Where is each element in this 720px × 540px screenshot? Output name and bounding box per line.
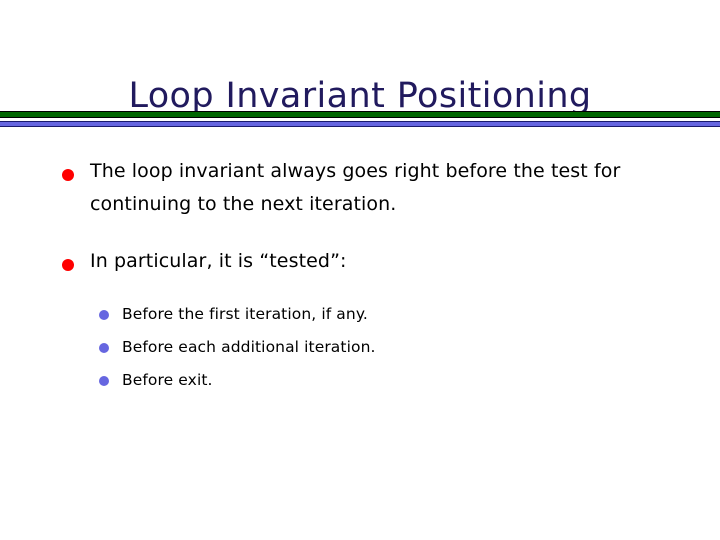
sub-bullet-text: Before exit. xyxy=(122,368,720,392)
sub-bullet-circle-icon xyxy=(99,376,109,386)
bullet-text: In particular, it is “tested”: xyxy=(90,245,630,278)
divider-bar-green xyxy=(0,111,720,118)
bullet-circle-icon xyxy=(62,169,74,181)
bullet-text: The loop invariant always goes right bef… xyxy=(90,155,630,221)
title-divider xyxy=(0,111,720,129)
sub-bullet-list: Before the first iteration, if any. Befo… xyxy=(0,302,720,392)
slide-body: The loop invariant always goes right bef… xyxy=(0,155,720,401)
presentation-slide: Loop Invariant Positioning The loop inva… xyxy=(0,0,720,540)
sub-bullet-circle-icon xyxy=(99,343,109,353)
bullet-circle-icon xyxy=(62,259,74,271)
sub-bullet-circle-icon xyxy=(99,310,109,320)
list-item: The loop invariant always goes right bef… xyxy=(0,155,720,221)
sub-bullet-text: Before each additional iteration. xyxy=(122,335,720,359)
list-item: Before exit. xyxy=(0,368,720,392)
list-item: In particular, it is “tested”: xyxy=(0,245,720,278)
divider-bar-blue xyxy=(0,121,720,127)
sub-bullet-text: Before the first iteration, if any. xyxy=(122,302,720,326)
list-item: Before the first iteration, if any. xyxy=(0,302,720,326)
list-item: Before each additional iteration. xyxy=(0,335,720,359)
